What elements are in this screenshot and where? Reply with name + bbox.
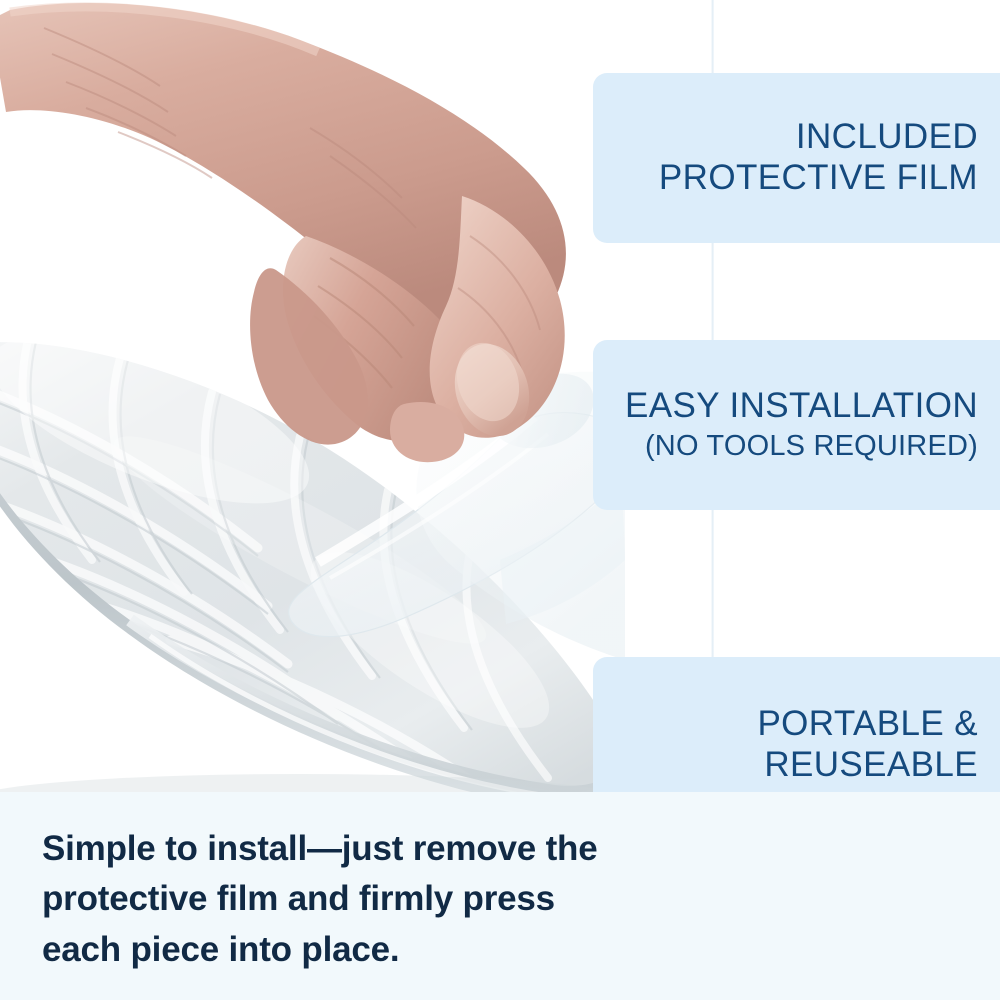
feature-panel-included-protective-film: INCLUDED PROTECTIVE FILM bbox=[593, 73, 1000, 243]
product-photo bbox=[0, 0, 625, 800]
feature-title-line-1: INCLUDED bbox=[796, 117, 978, 158]
feature-title-line-1: PORTABLE & bbox=[757, 704, 978, 745]
product-feature-graphic: INCLUDED PROTECTIVE FILM EASY INSTALLATI… bbox=[0, 0, 1000, 1000]
feature-title-line-2: PROTECTIVE FILM bbox=[659, 158, 978, 199]
feature-subtitle: (NO TOOLS REQUIRED) bbox=[645, 429, 978, 464]
caption-text: Simple to install—just remove the protec… bbox=[42, 824, 602, 975]
feature-panel-easy-installation: EASY INSTALLATION (NO TOOLS REQUIRED) bbox=[593, 340, 1000, 510]
feature-title-line-2: REUSEABLE bbox=[764, 745, 978, 786]
feature-title-line-2: EASY INSTALLATION bbox=[625, 386, 978, 427]
product-photo-illustration bbox=[0, 0, 625, 800]
caption-band: Simple to install—just remove the protec… bbox=[0, 792, 1000, 1000]
